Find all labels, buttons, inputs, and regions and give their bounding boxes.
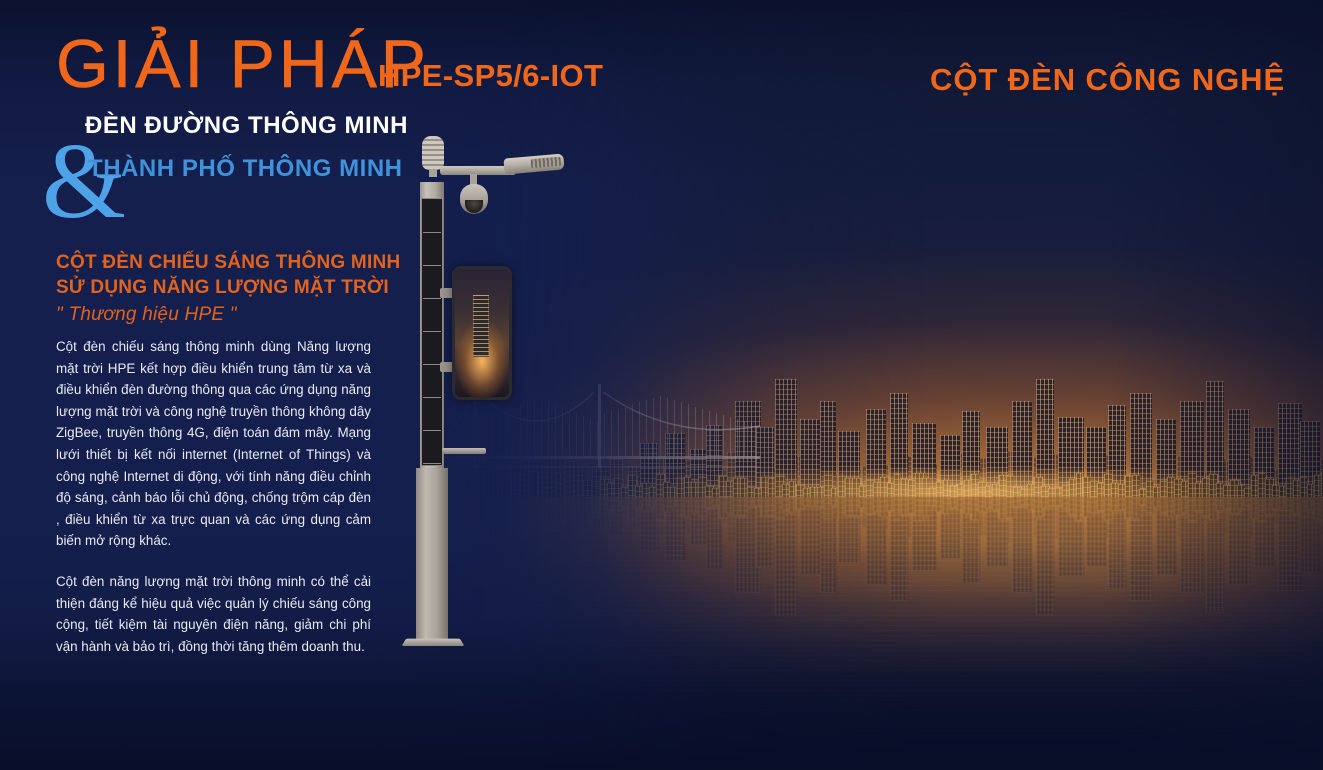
pole-mast-lower xyxy=(416,468,448,644)
section-title: CỘT ĐÈN CHIẾU SÁNG THÔNG MINH SỬ DỤNG NĂ… xyxy=(56,250,400,300)
page-title: GIẢI PHÁP xyxy=(56,30,430,98)
solar-panel-icon xyxy=(421,198,443,466)
brand-quote: " Thương hiệu HPE " xyxy=(56,304,237,326)
model-code: HPE-SP5/6-IOT xyxy=(378,58,603,94)
pole-shelf xyxy=(442,448,486,454)
screen-tower-graphic xyxy=(473,295,489,357)
section-title-line-1: CỘT ĐÈN CHIẾU SÁNG THÔNG MINH xyxy=(56,250,400,275)
led-street-lamp-icon xyxy=(503,153,564,174)
right-header-title: CỘT ĐÈN CÔNG NGHỆ xyxy=(930,62,1285,98)
lcd-display-screen xyxy=(452,266,512,400)
poster-canvas: GIẢI PHÁP HPE-SP5/6-IOT CỘT ĐÈN CÔNG NGH… xyxy=(0,0,1323,770)
weather-sensor-icon xyxy=(422,136,444,170)
smart-street-light-pole xyxy=(396,138,586,648)
subtitle-smart-city: THÀNH PHỐ THÔNG MINH xyxy=(88,155,403,183)
subtitle-smart-street-light: ĐÈN ĐƯỜNG THÔNG MINH xyxy=(85,112,408,140)
description-body: Cột đèn chiếu sáng thông minh dùng Năng … xyxy=(56,336,371,657)
paragraph-1: Cột đèn chiếu sáng thông minh dùng Năng … xyxy=(56,336,371,552)
pole-base-plate xyxy=(402,639,465,646)
section-title-line-2: SỬ DỤNG NĂNG LƯỢNG MẶT TRỜI xyxy=(56,275,400,300)
sensor-neck xyxy=(429,169,437,177)
screen-content-image xyxy=(455,269,509,397)
paragraph-2: Cột đèn năng lượng mặt trời thông minh c… xyxy=(56,571,371,657)
